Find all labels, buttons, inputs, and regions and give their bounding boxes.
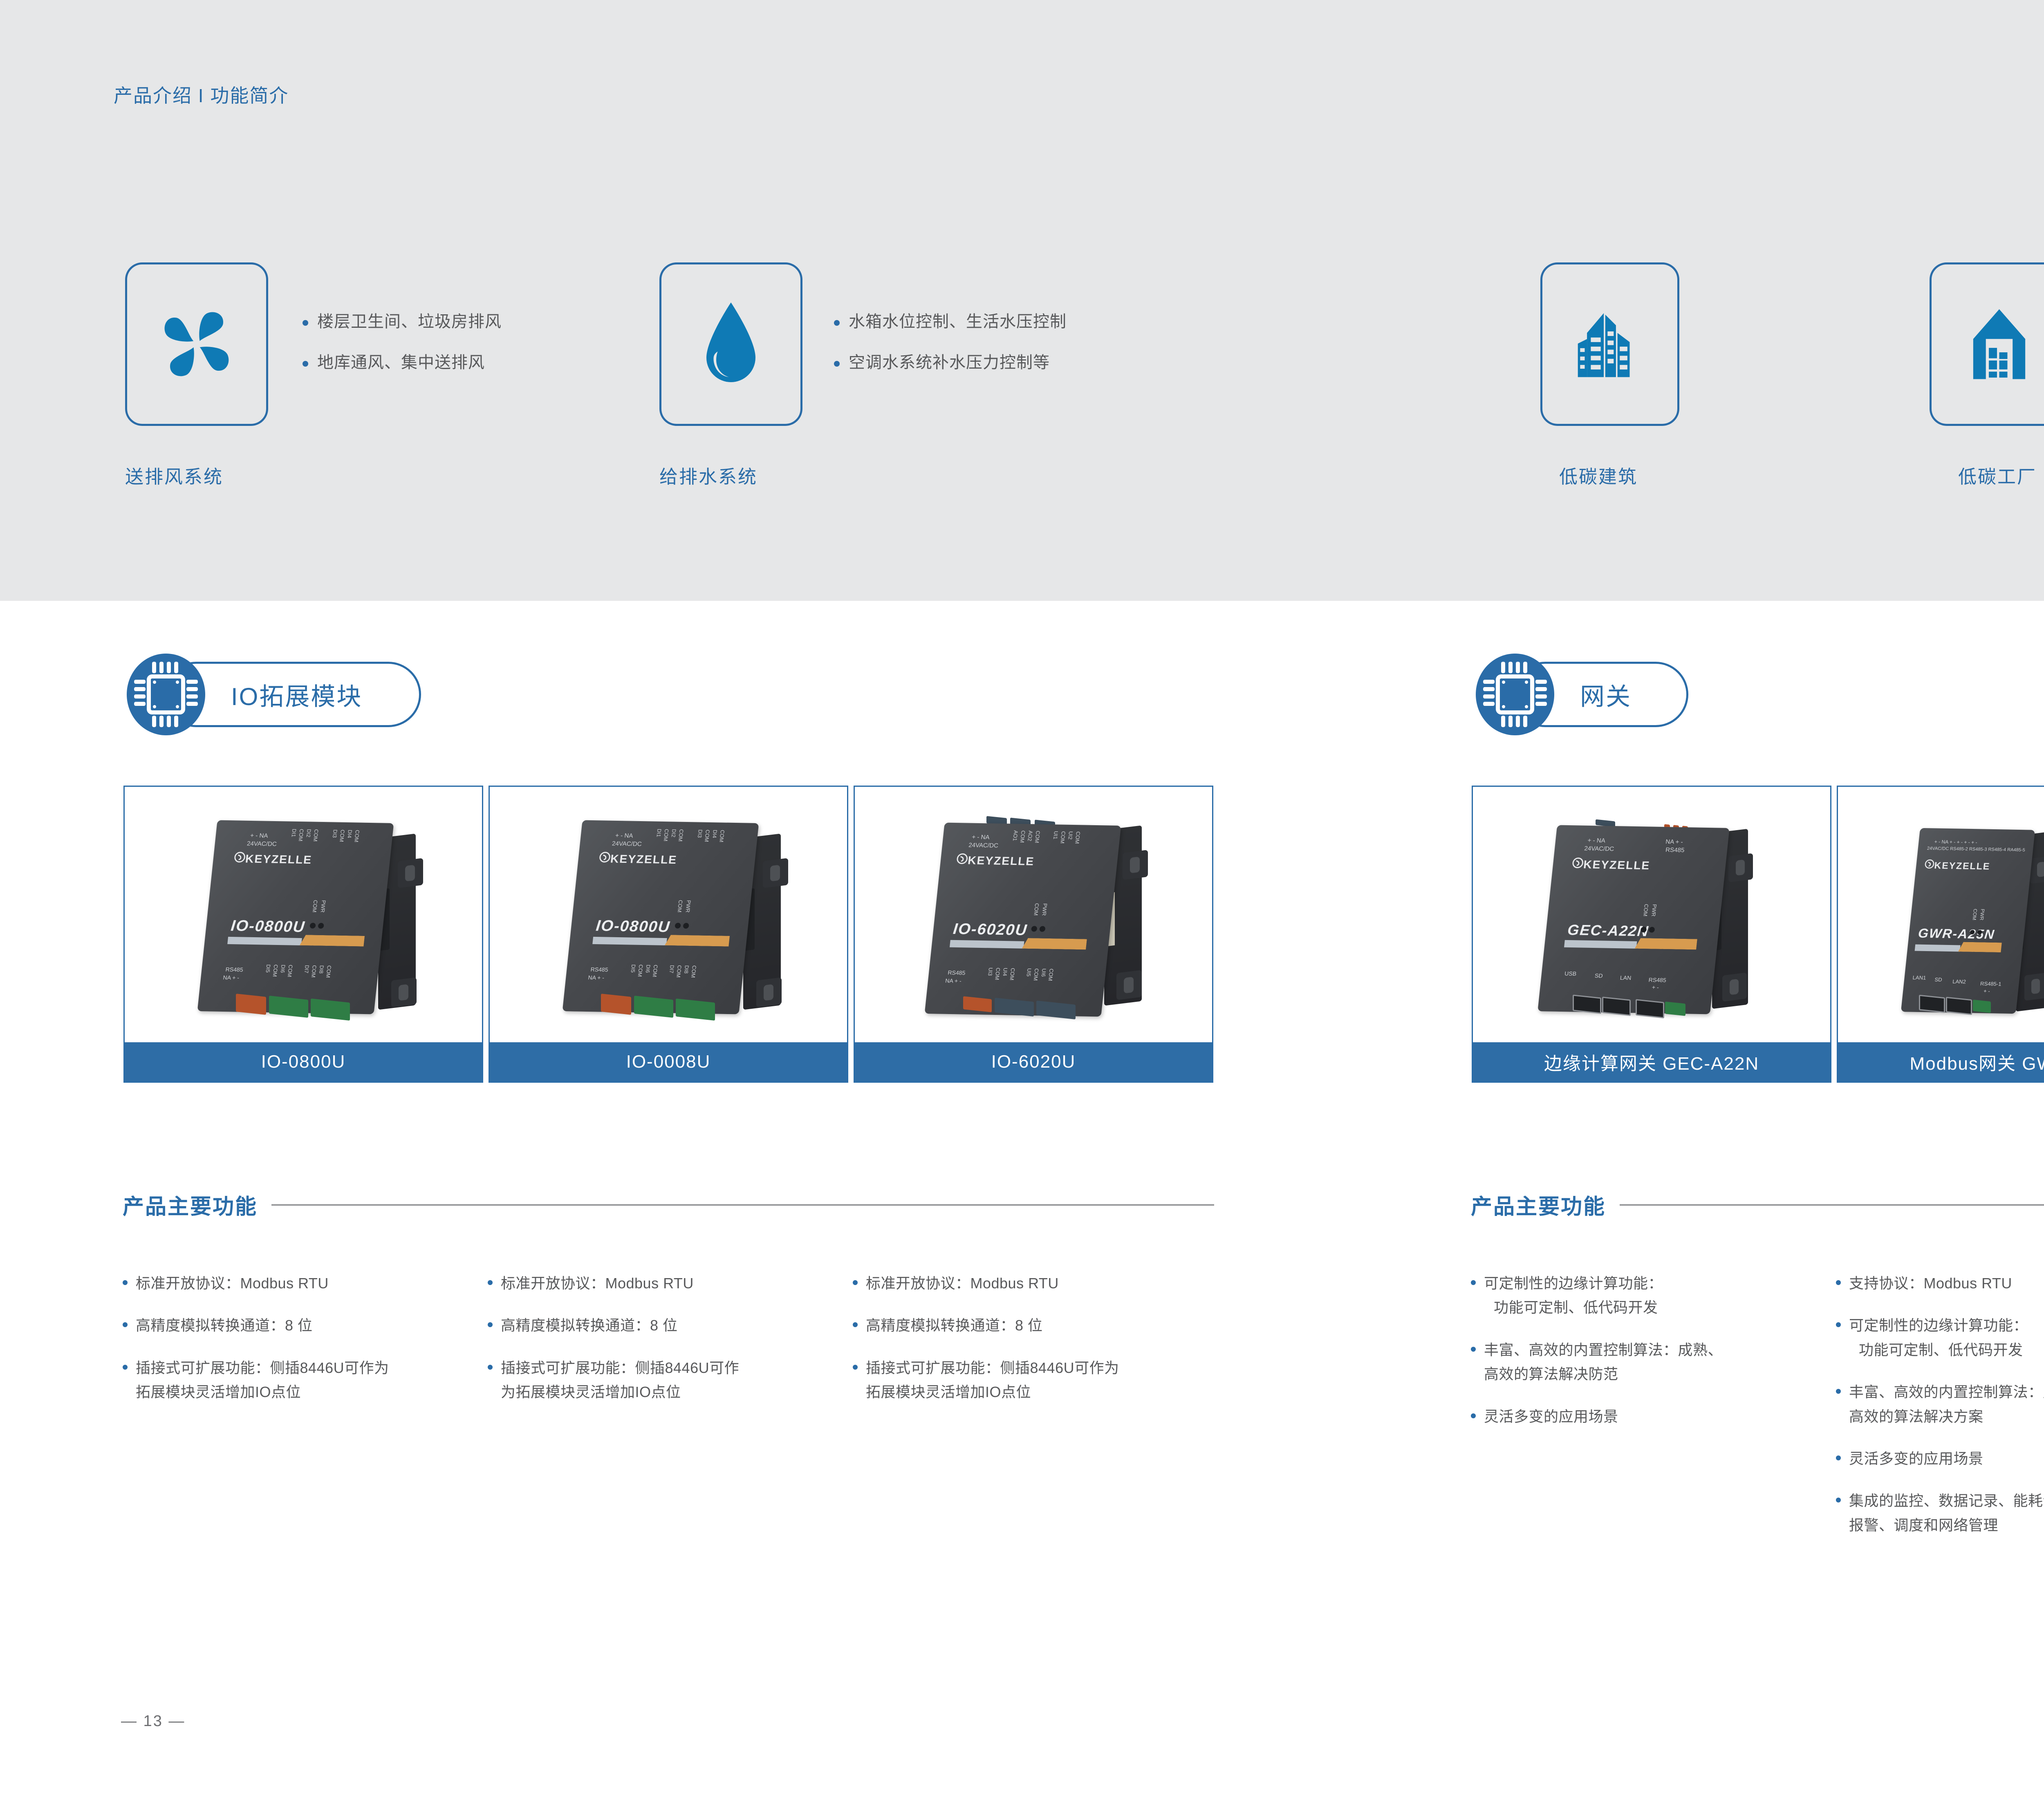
bullet-text: 地库通风、集中送排风: [317, 352, 485, 374]
bullet-dot-icon: [303, 361, 308, 367]
fan-icon: [158, 303, 235, 385]
product-caption: IO-6020U: [991, 1052, 1076, 1072]
bullet-item: 地库通风、集中送排风: [303, 352, 502, 374]
feature-item: 插接式可扩展功能：侧插8446U可作为 拓展模块灵活增加IO点位: [123, 1356, 474, 1404]
product-card[interactable]: + - NA + - + - + - + - 24VAC/DC RS485-2 …: [1837, 786, 2044, 1083]
product-caption-bar: Modbus网关 GWR-A25N: [1838, 1042, 2044, 1081]
feature-text: 标准开放协议：Modbus RTU: [501, 1271, 694, 1295]
application-icon-box-factory: [1930, 262, 2044, 426]
bullet-dot-icon: [123, 1365, 128, 1370]
product-image: + - NA 24VAC/DC NA + - RS485 KEYZELLE GE…: [1473, 787, 1830, 1042]
feature-item: 可定制性的边缘计算功能： 功能可定制、低代码开发: [1836, 1313, 2044, 1362]
bullet-dot-icon: [1836, 1280, 1841, 1285]
feature-text: 高效的算法解决防范: [1484, 1362, 1723, 1386]
features-title: 产品主要功能: [123, 1189, 258, 1220]
device-model: IO-0800U: [230, 917, 306, 936]
bullet-item: 水箱水位控制、生活水压控制: [834, 311, 1067, 333]
feature-item: 高精度模拟转换通道：8 位: [488, 1313, 839, 1337]
badge-label: IO拓展模块: [231, 677, 362, 712]
feature-text: 高精度模拟转换通道：8 位: [866, 1313, 1043, 1337]
product-caption-bar: IO-6020U: [855, 1042, 1212, 1081]
feature-column: 标准开放协议：Modbus RTU 高精度模拟转换通道：8 位 插接式可扩展功能…: [123, 1271, 474, 1422]
bullet-dot-icon: [853, 1322, 858, 1327]
application-label-factory: 低碳工厂: [1958, 462, 2037, 488]
heading-divider: [1620, 1204, 2044, 1206]
page-number-left: — 13 —: [121, 1713, 185, 1730]
brand-logo-icon: [956, 853, 968, 864]
product-card[interactable]: + - NA 24VAC/DC NA + - RS485 KEYZELLE GE…: [1472, 786, 1831, 1083]
bullet-dot-icon: [1836, 1498, 1841, 1502]
device-brand: KEYZELLE: [967, 854, 1035, 868]
bullet-dot-icon: [1471, 1347, 1476, 1352]
bullet-text: 楼层卫生间、垃圾房排风: [317, 311, 502, 333]
feature-text: 拓展模块灵活增加IO点位: [136, 1380, 389, 1404]
scenario-bullets-fan: 楼层卫生间、垃圾房排风 地库通风、集中送排风: [303, 311, 502, 392]
bullet-dot-icon: [834, 320, 840, 326]
chip-icon: [1472, 652, 1559, 737]
bullet-dot-icon: [1836, 1322, 1841, 1327]
page-header-left: 产品介绍 I 功能简介: [114, 81, 289, 108]
brand-logo-icon: [1571, 857, 1584, 869]
feature-item: 标准开放协议：Modbus RTU: [123, 1271, 474, 1295]
product-image: + - NA 24VAC/DC AO1 COM AO2 COM UI1 COM …: [855, 787, 1212, 1042]
scenario-icon-box-fan: [125, 262, 268, 426]
device-terminal-label: + - NA: [250, 832, 268, 840]
scenario-bullets-water: 水箱水位控制、生活水压控制 空调水系统补水压力控制等: [834, 311, 1067, 392]
product-card[interactable]: + - NA 24VAC/DC DI1 COM DI2 COM DI3 COM …: [123, 786, 483, 1083]
bullet-dot-icon: [1836, 1389, 1841, 1394]
feature-item: 支持协议：Modbus RTU: [1836, 1271, 2044, 1295]
feature-column: 支持协议：Modbus RTU 可定制性的边缘计算功能： 功能可定制、低代码开发…: [1836, 1271, 2044, 1555]
bullet-text: 水箱水位控制、生活水压控制: [849, 311, 1067, 333]
feature-item: 集成的监控、数据记录、能耗计量、 报警、调度和网络管理: [1836, 1489, 2044, 1537]
bullet-dot-icon: [303, 320, 308, 326]
product-card[interactable]: + - NA 24VAC/DC AO1 COM AO2 COM UI1 COM …: [854, 786, 1213, 1083]
feature-item: 高精度模拟转换通道：8 位: [853, 1313, 1213, 1337]
feature-text: 插接式可扩展功能：侧插8446U可作: [501, 1356, 739, 1380]
feature-text: 标准开放协议：Modbus RTU: [866, 1271, 1059, 1295]
bullet-dot-icon: [1471, 1280, 1476, 1285]
scenario-label-water: 给排水系统: [659, 462, 758, 488]
product-caption-bar: 边缘计算网关 GEC-A22N: [1473, 1042, 1830, 1081]
feature-column: 标准开放协议：Modbus RTU 高精度模拟转换通道：8 位 插接式可扩展功能…: [488, 1271, 839, 1422]
feature-text: 高效的算法解决方案: [1849, 1404, 2044, 1429]
bullet-item: 楼层卫生间、垃圾房排风: [303, 311, 502, 333]
device-terminal-label: 24VAC/DC: [247, 840, 277, 848]
device-model: GWR-A25N: [1917, 926, 1995, 942]
feature-text: 丰富、高效的内置控制算法：成熟、: [1849, 1380, 2044, 1404]
brand-logo-icon: [1924, 859, 1935, 869]
product-caption: Modbus网关 GWR-A25N: [1910, 1049, 2044, 1075]
bullet-dot-icon: [834, 361, 840, 367]
scenario-label-fan: 送排风系统: [125, 462, 223, 488]
device-brand: KEYZELLE: [245, 852, 313, 867]
feature-item: 灵活多变的应用场景: [1471, 1404, 1822, 1429]
product-caption: 边缘计算网关 GEC-A22N: [1544, 1049, 1759, 1075]
feature-item: 插接式可扩展功能：侧插8446U可作为 拓展模块灵活增加IO点位: [853, 1356, 1213, 1404]
feature-item: 标准开放协议：Modbus RTU: [853, 1271, 1213, 1295]
product-caption-bar: IO-0008U: [490, 1042, 847, 1081]
bullet-dot-icon: [488, 1322, 493, 1327]
feature-column: 标准开放协议：Modbus RTU 高精度模拟转换通道：8 位 插接式可扩展功能…: [853, 1271, 1213, 1422]
feature-text: 插接式可扩展功能：侧插8446U可作为: [136, 1356, 389, 1380]
feature-text: 高精度模拟转换通道：8 位: [501, 1313, 678, 1337]
feature-text: 集成的监控、数据记录、能耗计量、: [1849, 1489, 2044, 1513]
factory-icon: [1963, 303, 2035, 385]
chip-icon: [123, 652, 210, 737]
feature-text: 插接式可扩展功能：侧插8446U可作为: [866, 1356, 1119, 1380]
application-icon-box-building: [1540, 262, 1679, 426]
heading-divider: [271, 1204, 1214, 1206]
brand-logo-icon: [233, 851, 246, 863]
feature-text: 高精度模拟转换通道：8 位: [136, 1313, 313, 1337]
product-image: + - NA 24VAC/DC DI1 COM DI2 COM DI3 COM …: [490, 787, 847, 1042]
top-grey-band: [0, 0, 2044, 601]
feature-item: 插接式可扩展功能：侧插8446U可作 为拓展模块灵活增加IO点位: [488, 1356, 839, 1404]
bullet-dot-icon: [488, 1365, 493, 1370]
section-badge-gateway: 网关: [1472, 652, 1733, 737]
feature-text: 可定制性的边缘计算功能：: [1484, 1271, 1663, 1295]
feature-item: 灵活多变的应用场景: [1836, 1446, 2044, 1471]
bullet-dot-icon: [853, 1280, 858, 1285]
device-model: IO-0800U: [595, 917, 671, 936]
bullet-dot-icon: [123, 1280, 128, 1285]
feature-text: 灵活多变的应用场景: [1484, 1404, 1618, 1429]
product-image: + - NA + - + - + - + - 24VAC/DC RS485-2 …: [1838, 787, 2044, 1042]
device-model: GEC-A22N: [1567, 921, 1650, 940]
bullet-text: 空调水系统补水压力控制等: [849, 352, 1050, 374]
feature-text: 拓展模块灵活增加IO点位: [866, 1380, 1119, 1404]
bullet-dot-icon: [123, 1322, 128, 1327]
feature-text: 可定制性的边缘计算功能：: [1849, 1313, 2028, 1337]
feature-item: 高精度模拟转换通道：8 位: [123, 1313, 474, 1337]
feature-text: 支持协议：Modbus RTU: [1849, 1271, 2012, 1295]
features-title: 产品主要功能: [1471, 1189, 1606, 1220]
feature-item: 标准开放协议：Modbus RTU: [488, 1271, 839, 1295]
water-drop-icon: [700, 298, 762, 390]
section-badge-io: IO拓展模块: [123, 652, 433, 737]
feature-text: 为拓展模块灵活增加IO点位: [501, 1380, 739, 1404]
product-card[interactable]: + - NA 24VAC/DC DI1 COM DI2 COM DI3 COM …: [489, 786, 848, 1083]
bullet-dot-icon: [1471, 1413, 1476, 1418]
device-brand: KEYZELLE: [1583, 858, 1651, 872]
bullet-dot-icon: [1836, 1455, 1841, 1460]
bullet-dot-icon: [853, 1365, 858, 1370]
device-model: IO-6020U: [952, 920, 1028, 939]
application-label-building: 低碳建筑: [1559, 462, 1638, 488]
product-caption-bar: IO-0800U: [125, 1042, 482, 1081]
feature-text: 报警、调度和网络管理: [1849, 1513, 2044, 1537]
product-caption: IO-0800U: [261, 1052, 346, 1072]
office-building-icon: [1571, 302, 1649, 386]
features-heading-right: 产品主要功能: [1471, 1189, 2044, 1220]
features-heading-left: 产品主要功能: [123, 1189, 1214, 1220]
device-brand: KEYZELLE: [610, 852, 678, 867]
feature-column: 可定制性的边缘计算功能： 功能可定制、低代码开发 丰富、高效的内置控制算法：成熟…: [1471, 1271, 1822, 1446]
feature-text: 标准开放协议：Modbus RTU: [136, 1271, 329, 1295]
badge-label: 网关: [1580, 677, 1632, 712]
feature-item: 可定制性的边缘计算功能： 功能可定制、低代码开发: [1471, 1271, 1822, 1320]
feature-text: 功能可定制、低代码开发: [1484, 1295, 1663, 1319]
scenario-icon-box-water: [659, 262, 802, 426]
bullet-dot-icon: [488, 1280, 493, 1285]
feature-item: 丰富、高效的内置控制算法：成熟、 高效的算法解决防范: [1471, 1338, 1822, 1386]
product-image: + - NA 24VAC/DC DI1 COM DI2 COM DI3 COM …: [125, 787, 482, 1042]
brand-logo-icon: [598, 851, 611, 863]
device-brand: KEYZELLE: [1934, 860, 1990, 872]
bullet-item: 空调水系统补水压力控制等: [834, 352, 1067, 374]
feature-text: 灵活多变的应用场景: [1849, 1446, 1983, 1471]
feature-text: 丰富、高效的内置控制算法：成熟、: [1484, 1338, 1723, 1362]
brochure-spread: 产品介绍 I 功能简介 产品介绍 I 功能简介 送排风系统 楼层卫生间、垃圾房排…: [0, 0, 2044, 1798]
product-caption: IO-0008U: [626, 1052, 711, 1072]
feature-item: 丰富、高效的内置控制算法：成熟、 高效的算法解决方案: [1836, 1380, 2044, 1429]
feature-text: 功能可定制、低代码开发: [1849, 1338, 2028, 1362]
